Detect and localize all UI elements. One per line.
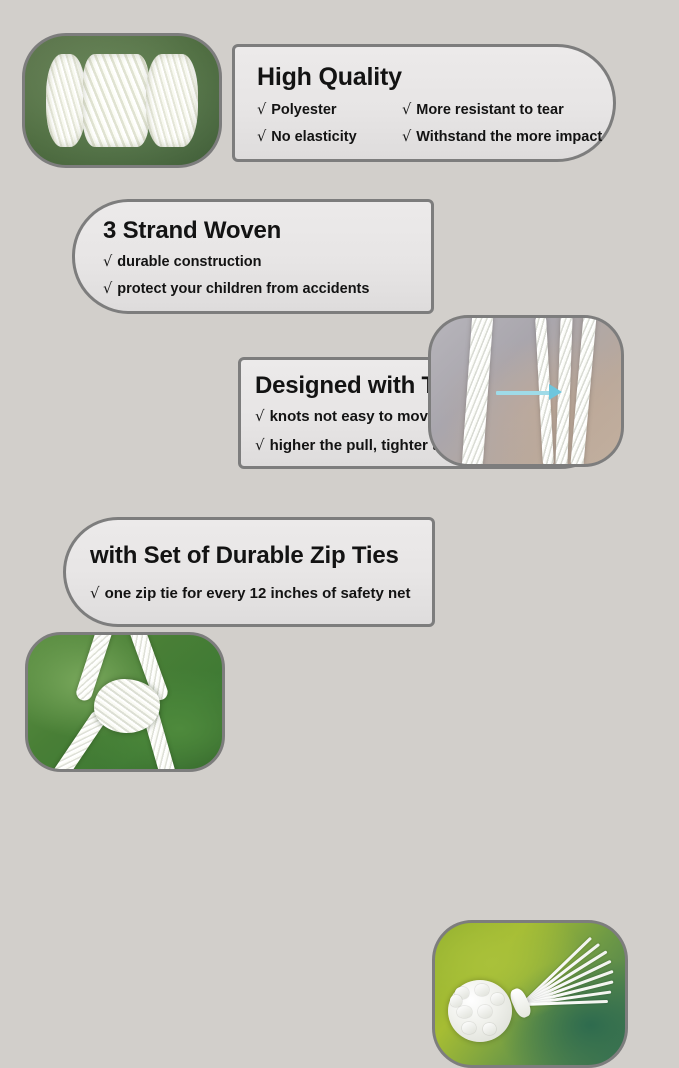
check-icon: √ — [257, 102, 266, 118]
infographic-canvas: High Quality √ Polyester √ More resistan… — [0, 0, 679, 679]
rope-coil-photo — [22, 33, 222, 168]
panel-three-strand-woven: 3 Strand Woven √ durable construction √ … — [72, 199, 434, 314]
zip-tie-heads — [448, 980, 512, 1042]
bullet-item: √ one zip tie for every 12 inches of saf… — [90, 584, 432, 602]
knot-core — [94, 679, 160, 733]
knot-photo — [25, 632, 225, 772]
three-strand-photo — [428, 315, 624, 467]
bullet-label: Polyester — [271, 102, 336, 118]
check-icon: √ — [90, 584, 100, 602]
bullet-item: √ No elasticity — [257, 129, 402, 145]
check-icon: √ — [103, 254, 112, 270]
check-icon: √ — [402, 129, 411, 145]
bullet-label: Withstand the more impact — [416, 129, 602, 145]
check-icon: √ — [255, 436, 265, 454]
bullet-label: one zip tie for every 12 inches of safet… — [105, 585, 411, 602]
zip-ties-photo — [432, 920, 628, 1068]
coil-segment — [83, 54, 150, 147]
panel-heading: High Quality — [257, 63, 613, 92]
coil-segment — [46, 54, 85, 147]
bullet-label: More resistant to tear — [416, 102, 563, 118]
bullet-item: √ protect your children from accidents — [103, 281, 431, 297]
bullet-item: √ Withstand the more impact — [402, 129, 613, 145]
bullet-item: √ durable construction — [103, 254, 431, 270]
rope-coil-illustration — [46, 54, 197, 147]
bullet-item: √ More resistant to tear — [402, 102, 613, 118]
bullet-grid: √ Polyester √ More resistant to tear √ N… — [257, 102, 613, 145]
bullet-item: √ Polyester — [257, 102, 402, 118]
woven-rope — [462, 315, 494, 467]
panel-heading: 3 Strand Woven — [103, 217, 431, 245]
check-icon: √ — [255, 407, 265, 425]
coil-segment — [146, 54, 197, 147]
check-icon: √ — [402, 102, 411, 118]
transition-arrow — [496, 391, 554, 395]
check-icon: √ — [257, 129, 266, 145]
bullet-label: No elasticity — [271, 129, 356, 145]
panel-heading: with Set of Durable Zip Ties — [90, 542, 432, 570]
panel-durable-zip-ties: with Set of Durable Zip Ties √ one zip t… — [63, 517, 435, 627]
separated-strand — [571, 315, 598, 467]
panel-high-quality: High Quality √ Polyester √ More resistan… — [232, 44, 616, 162]
bullet-label: durable construction — [117, 254, 261, 270]
bullet-label: protect your children from accidents — [117, 281, 369, 297]
check-icon: √ — [103, 281, 112, 297]
transition-arrow-head — [549, 384, 562, 400]
